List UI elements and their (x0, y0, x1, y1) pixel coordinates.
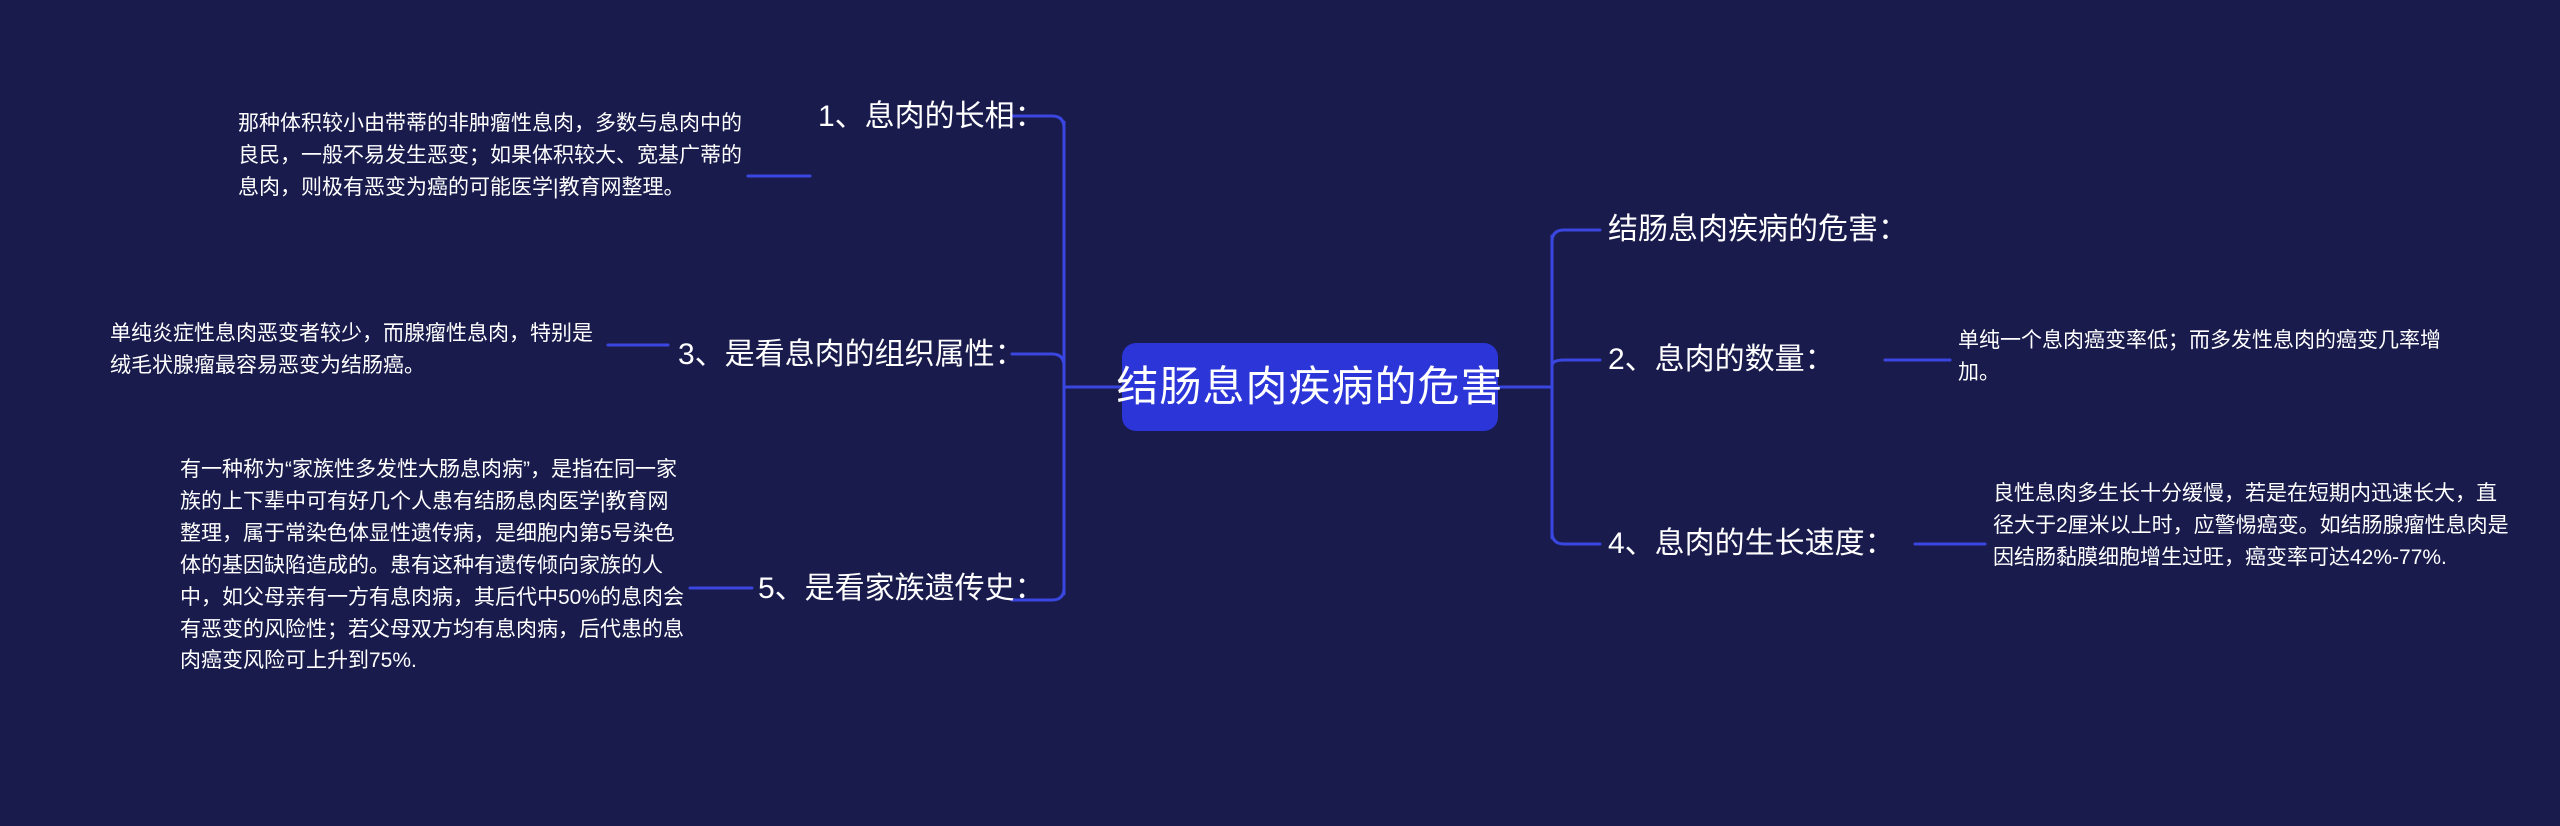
branch-label-5[interactable]: 5、是看家族遗传史： (758, 572, 1045, 607)
branch-label-3[interactable]: 3、是看息肉的组织属性： (678, 338, 1025, 373)
root-node[interactable]: 结肠息肉疾病的危害 (1122, 343, 1498, 431)
root-node-label: 结肠息肉疾病的危害 (1117, 366, 1504, 408)
branch-label-2[interactable]: 2、息肉的数量： (1608, 343, 1835, 378)
branch-label-1[interactable]: 1、息肉的长相： (818, 100, 1045, 135)
branch-label-right-harm[interactable]: 结肠息肉疾病的危害： (1608, 213, 1908, 248)
leaf-text-3: 单纯炎症性息肉恶变者较少，而腺瘤性息肉，特别是绒毛状腺瘤最容易恶变为结肠癌。 (110, 318, 602, 382)
mindmap-canvas: 结肠息肉疾病的危害 1、息肉的长相： 那种体积较小由带蒂的非肿瘤性息肉，多数与息… (0, 0, 2560, 826)
leaf-text-4: 良性息肉多生长十分缓慢，若是在短期内迅速长大，直径大于2厘米以上时，应警惕癌变。… (1993, 478, 2515, 574)
leaf-text-1: 那种体积较小由带蒂的非肿瘤性息肉，多数与息肉中的良民，一般不易发生恶变；如果体积… (238, 108, 748, 204)
branch-label-4[interactable]: 4、息肉的生长速度： (1608, 527, 1895, 562)
leaf-text-2: 单纯一个息肉癌变率低；而多发性息肉的癌变几率增加。 (1958, 325, 2478, 389)
leaf-text-5: 有一种称为“家族性多发性大肠息肉病”，是指在同一家族的上下辈中可有好几个人患有结… (180, 454, 688, 677)
